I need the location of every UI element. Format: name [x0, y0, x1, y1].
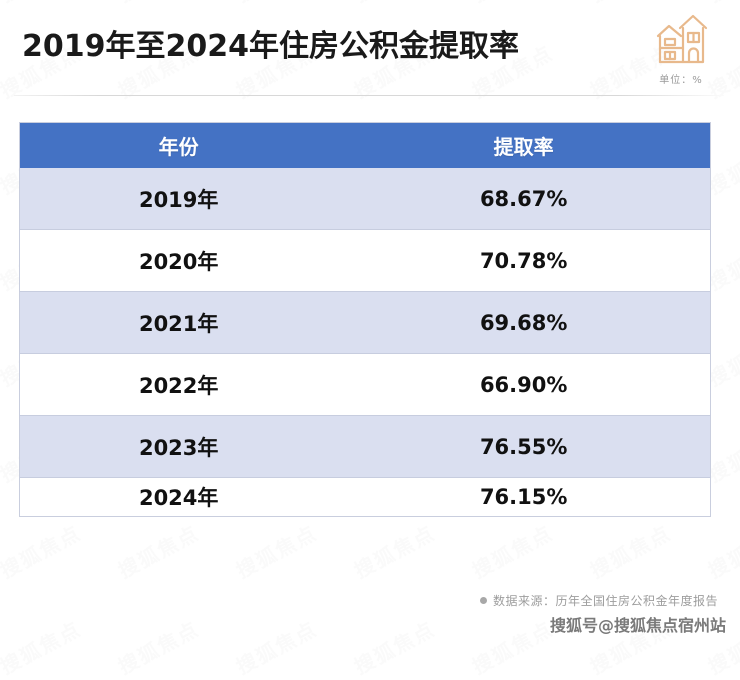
house-icon — [650, 8, 712, 70]
column-header-year: 年份 — [20, 123, 338, 169]
table-row: 2024年 76.15% — [20, 478, 711, 517]
cell-rate: 69.68% — [337, 292, 710, 354]
source-text: 数据来源：历年全国住房公积金年度报告 — [493, 594, 718, 608]
table-header-row: 年份 提取率 — [20, 123, 711, 169]
cell-year: 2024年 — [20, 478, 338, 517]
page-title: 2019年至2024年住房公积金提取率 — [22, 21, 519, 65]
bullet-icon — [480, 597, 487, 604]
cell-rate: 66.90% — [337, 354, 710, 416]
unit-label: 单位：% — [638, 71, 724, 86]
cell-year: 2019年 — [20, 168, 338, 230]
table-body: 2019年 68.67% 2020年 70.78% 2021年 69.68% 2… — [20, 168, 711, 517]
cell-year: 2020年 — [20, 230, 338, 292]
cell-year: 2023年 — [20, 416, 338, 478]
title-divider — [14, 95, 724, 96]
table-row: 2021年 69.68% — [20, 292, 711, 354]
table-row: 2020年 70.78% — [20, 230, 711, 292]
table-row: 2022年 66.90% — [20, 354, 711, 416]
source-note: 数据来源：历年全国住房公积金年度报告 — [480, 592, 718, 609]
unit-block: 单位：% — [638, 8, 724, 86]
table-header: 年份 提取率 — [20, 123, 711, 169]
infographic-page: 2019年至2024年住房公积金提取率 — [0, 0, 740, 636]
cell-rate: 68.67% — [337, 168, 710, 230]
table-row: 2019年 68.67% — [20, 168, 711, 230]
extraction-rate-table: 年份 提取率 2019年 68.67% 2020年 70.78% 2021年 6… — [19, 122, 711, 517]
cell-rate: 70.78% — [337, 230, 710, 292]
table-row: 2023年 76.55% — [20, 416, 711, 478]
cell-year: 2022年 — [20, 354, 338, 416]
header: 2019年至2024年住房公积金提取率 — [0, 0, 740, 96]
cell-year: 2021年 — [20, 292, 338, 354]
column-header-rate: 提取率 — [337, 123, 710, 169]
cell-rate: 76.55% — [337, 416, 710, 478]
cell-rate: 76.15% — [337, 478, 710, 517]
brand-watermark: 搜狐号@搜狐焦点宿州站 — [550, 612, 726, 636]
